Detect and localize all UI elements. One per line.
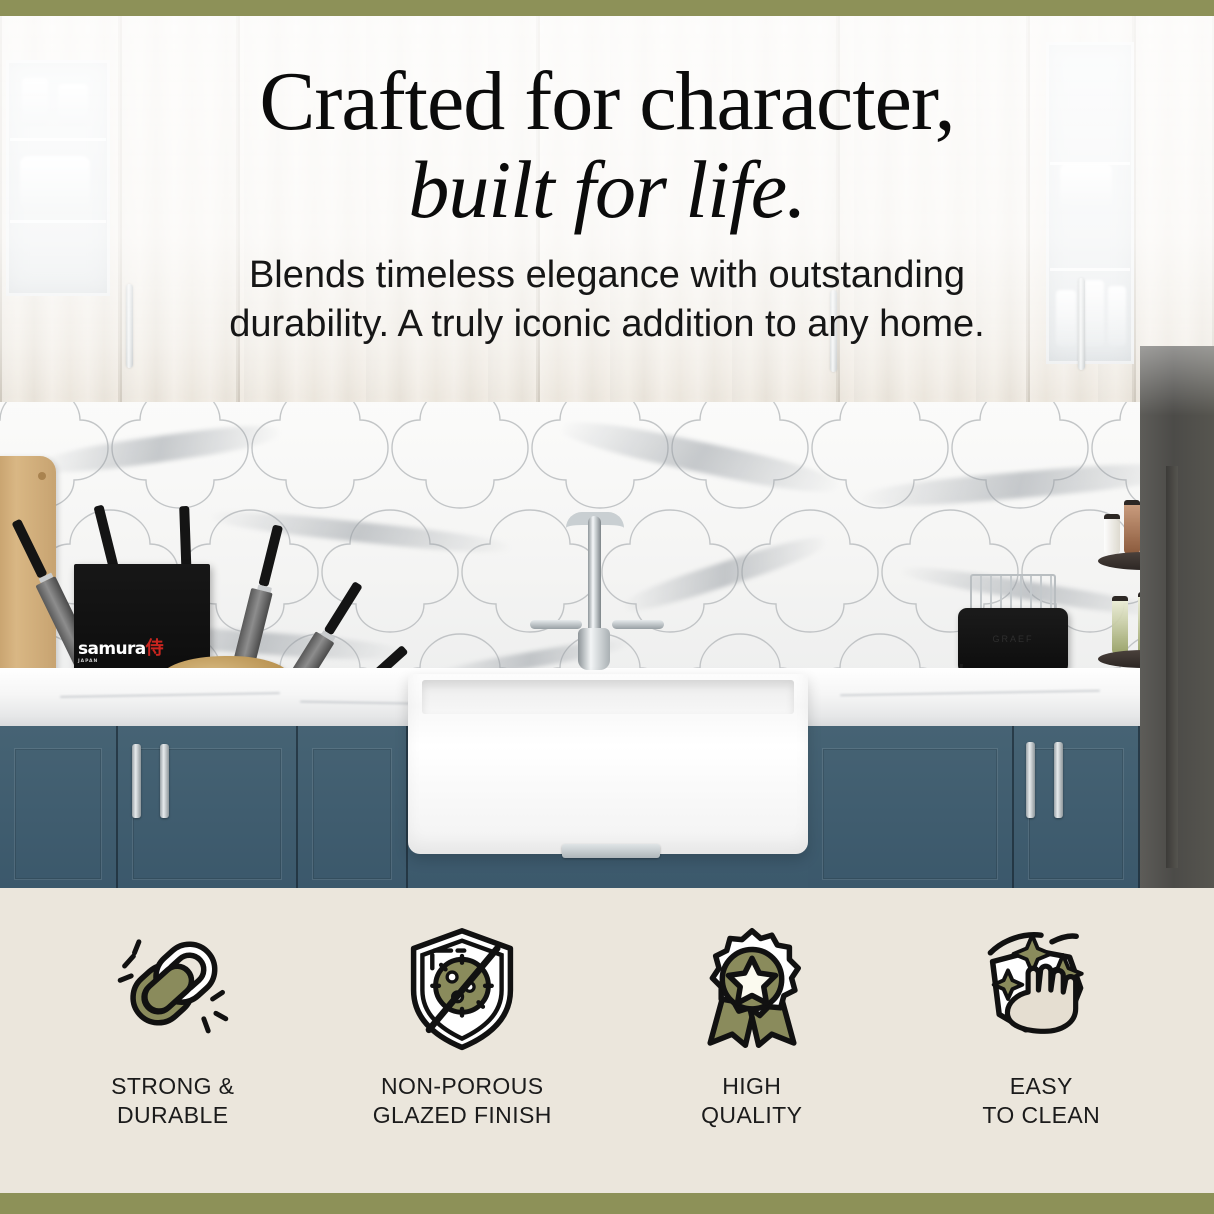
toaster-brand: GRAEF [958, 634, 1068, 644]
feature-label: STRONG & DURABLE [111, 1072, 234, 1131]
faucet-lever-right[interactable] [612, 620, 664, 629]
feature-item-non-porous: NON-POROUS GLAZED FINISH [318, 922, 608, 1131]
feature-item-high-quality: HIGH QUALITY [607, 922, 897, 1131]
feature-label-line-2: TO CLEAN [982, 1101, 1100, 1130]
feature-label-line-2: DURABLE [111, 1101, 234, 1130]
feature-strip: STRONG & DURABLE [0, 888, 1214, 1193]
product-banner: samura侍 JAPAN GRAEF [0, 0, 1214, 1214]
toaster-warming-rack [970, 574, 1056, 610]
headline-block: Crafted for character, built for life. B… [0, 16, 1214, 349]
kitchen-hero-photo: samura侍 JAPAN GRAEF [0, 16, 1214, 888]
bottom-accent-rule [0, 1193, 1214, 1214]
award-ribbon-icon [686, 922, 818, 1054]
feature-label-line-1: STRONG & [111, 1072, 234, 1101]
farmhouse-sink [408, 674, 808, 854]
faucet-spout [588, 516, 601, 636]
headline-line-2: built for life. [0, 151, 1214, 230]
faucet-lever-left[interactable] [530, 620, 582, 629]
top-accent-rule [0, 0, 1214, 16]
feature-label: NON-POROUS GLAZED FINISH [373, 1072, 552, 1131]
feature-label-line-2: GLAZED FINISH [373, 1101, 552, 1130]
sink-basin [422, 680, 794, 714]
subheadline-line-2: durability. A truly iconic addition to a… [0, 300, 1214, 349]
subheadline: Blends timeless elegance with outstandin… [0, 251, 1214, 348]
headline-line-1: Crafted for character, [259, 55, 954, 148]
feature-label: EASY TO CLEAN [982, 1072, 1100, 1131]
sink-drawer-handle[interactable] [562, 844, 660, 858]
wipe-cloth-icon [975, 922, 1107, 1054]
toaster: GRAEF [958, 608, 1068, 674]
headline: Crafted for character, built for life. [0, 62, 1214, 229]
base-cabinet-handle[interactable] [160, 744, 169, 818]
tall-cabinet-column [1140, 346, 1214, 888]
base-cabinet-handle[interactable] [1026, 742, 1035, 818]
feature-item-easy-to-clean: EASY TO CLEAN [897, 922, 1187, 1131]
brand-wordmark: samura [78, 639, 146, 659]
shield-germ-icon [396, 922, 528, 1054]
base-cabinet-handle[interactable] [132, 744, 141, 818]
feature-item-strong-durable: STRONG & DURABLE [28, 922, 318, 1131]
subheadline-line-1: Blends timeless elegance with outstandin… [0, 251, 1214, 300]
feature-label-line-1: NON-POROUS [373, 1072, 552, 1101]
brand-kanji: 侍 [146, 638, 163, 659]
feature-label-line-2: QUALITY [701, 1101, 802, 1130]
faucet-body [578, 628, 610, 670]
chain-link-icon [107, 922, 239, 1054]
feature-label-line-1: EASY [982, 1072, 1100, 1101]
feature-label: HIGH QUALITY [701, 1072, 802, 1131]
base-cabinet-handle[interactable] [1054, 742, 1063, 818]
feature-label-line-1: HIGH [701, 1072, 802, 1101]
